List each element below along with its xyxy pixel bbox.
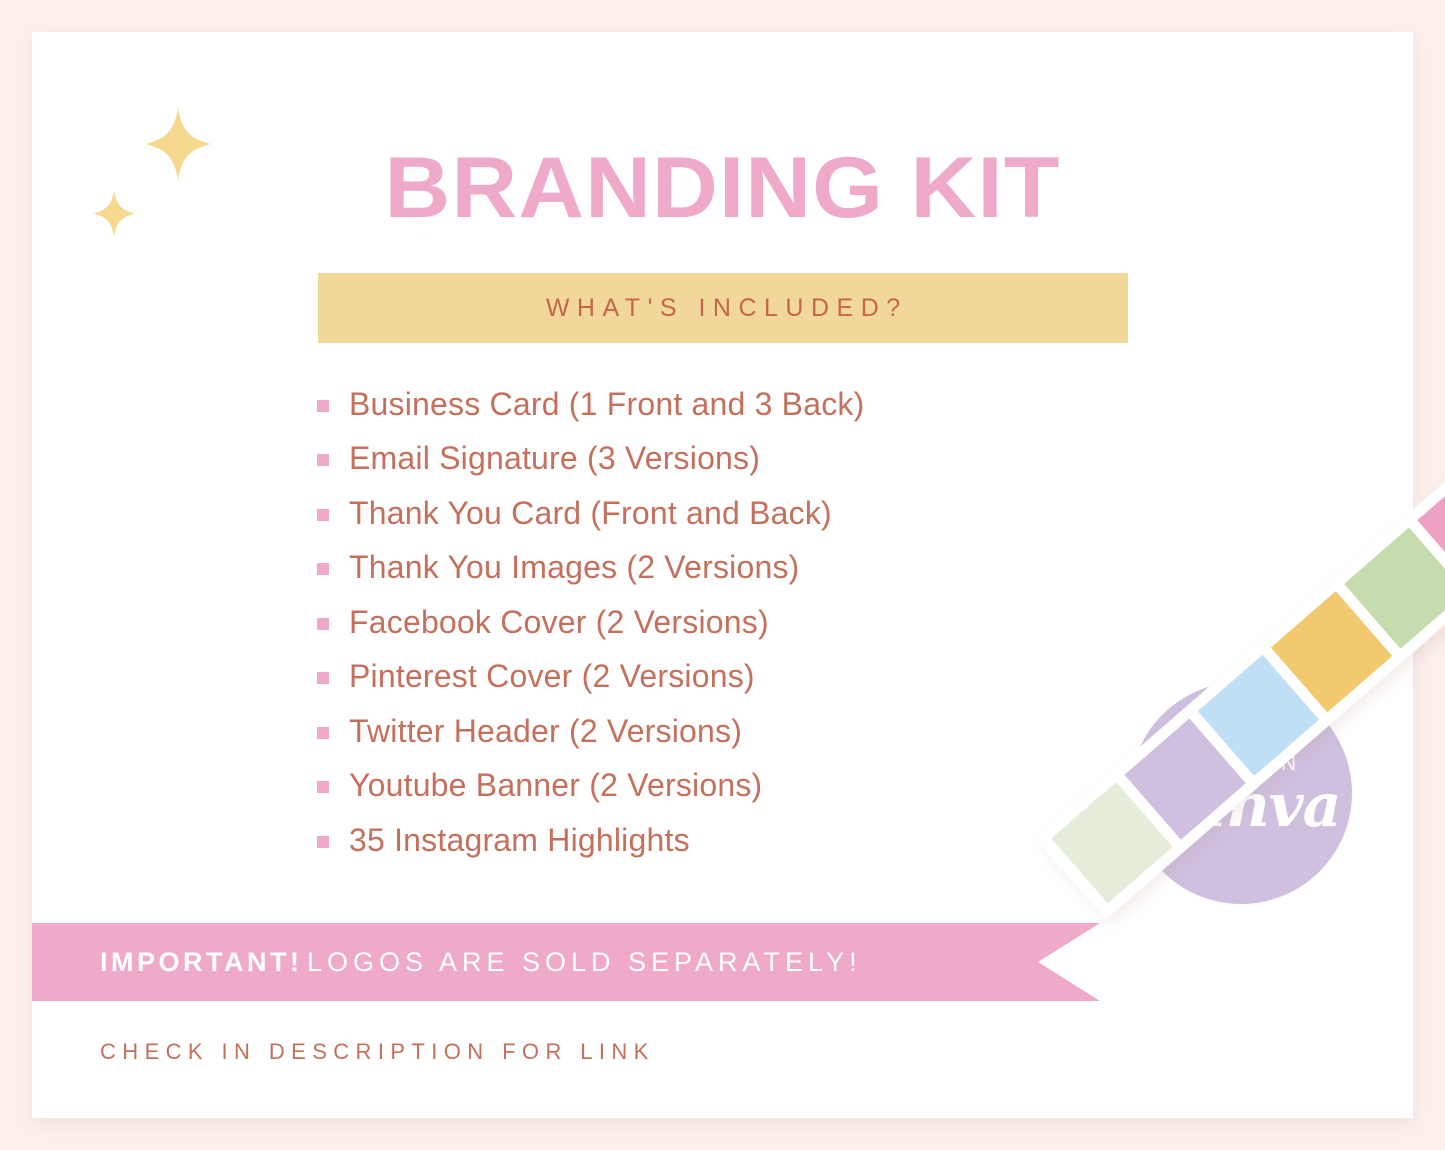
list-item-label: Thank You Card (Front and Back)	[349, 495, 832, 532]
list-item: Business Card (1 Front and 3 Back)	[317, 377, 1217, 432]
list-item-label: Facebook Cover (2 Versions)	[349, 604, 769, 641]
list-item: Pinterest Cover (2 Versions)	[317, 650, 1217, 705]
list-item: Thank You Card (Front and Back)	[317, 486, 1217, 541]
list-item-label: Youtube Banner (2 Versions)	[349, 767, 762, 804]
bullet-square-icon	[317, 454, 329, 466]
list-item-label: Email Signature (3 Versions)	[349, 440, 760, 477]
list-item: Email Signature (3 Versions)	[317, 432, 1217, 487]
bullet-square-icon	[317, 563, 329, 575]
important-ribbon-banner: IMPORTANT! LOGOS ARE SOLD SEPARATELY!	[32, 923, 1100, 1001]
bullet-square-icon	[317, 836, 329, 848]
bullet-square-icon	[317, 727, 329, 739]
list-item: Facebook Cover (2 Versions)	[317, 595, 1217, 650]
important-emphasis: IMPORTANT!	[100, 947, 302, 977]
bullet-square-icon	[317, 781, 329, 793]
whats-included-banner: WHAT'S INCLUDED?	[318, 273, 1128, 343]
list-item-label: Thank You Images (2 Versions)	[349, 549, 800, 586]
list-item-label: Twitter Header (2 Versions)	[349, 713, 742, 750]
list-item-label: Pinterest Cover (2 Versions)	[349, 658, 755, 695]
list-item: Twitter Header (2 Versions)	[317, 704, 1217, 759]
bullet-square-icon	[317, 618, 329, 630]
list-item-label: 35 Instagram Highlights	[349, 822, 690, 859]
whats-included-label: WHAT'S INCLUDED?	[538, 294, 907, 323]
footer-note: CHECK IN DESCRIPTION FOR LINK	[100, 1039, 655, 1065]
included-items-list: Business Card (1 Front and 3 Back) Email…	[317, 377, 1217, 868]
page-title: BRANDING KIT	[32, 145, 1413, 231]
white-card: BRANDING KIT WHAT'S INCLUDED? Business C…	[32, 32, 1413, 1118]
important-banner-text: IMPORTANT! LOGOS ARE SOLD SEPARATELY!	[100, 947, 862, 978]
bullet-square-icon	[317, 672, 329, 684]
bullet-square-icon	[317, 400, 329, 412]
bullet-square-icon	[317, 509, 329, 521]
list-item: Thank You Images (2 Versions)	[317, 541, 1217, 596]
important-message: LOGOS ARE SOLD SEPARATELY!	[307, 947, 862, 977]
list-item-label: Business Card (1 Front and 3 Back)	[349, 386, 864, 423]
poster-canvas: BRANDING KIT WHAT'S INCLUDED? Business C…	[0, 0, 1445, 1150]
